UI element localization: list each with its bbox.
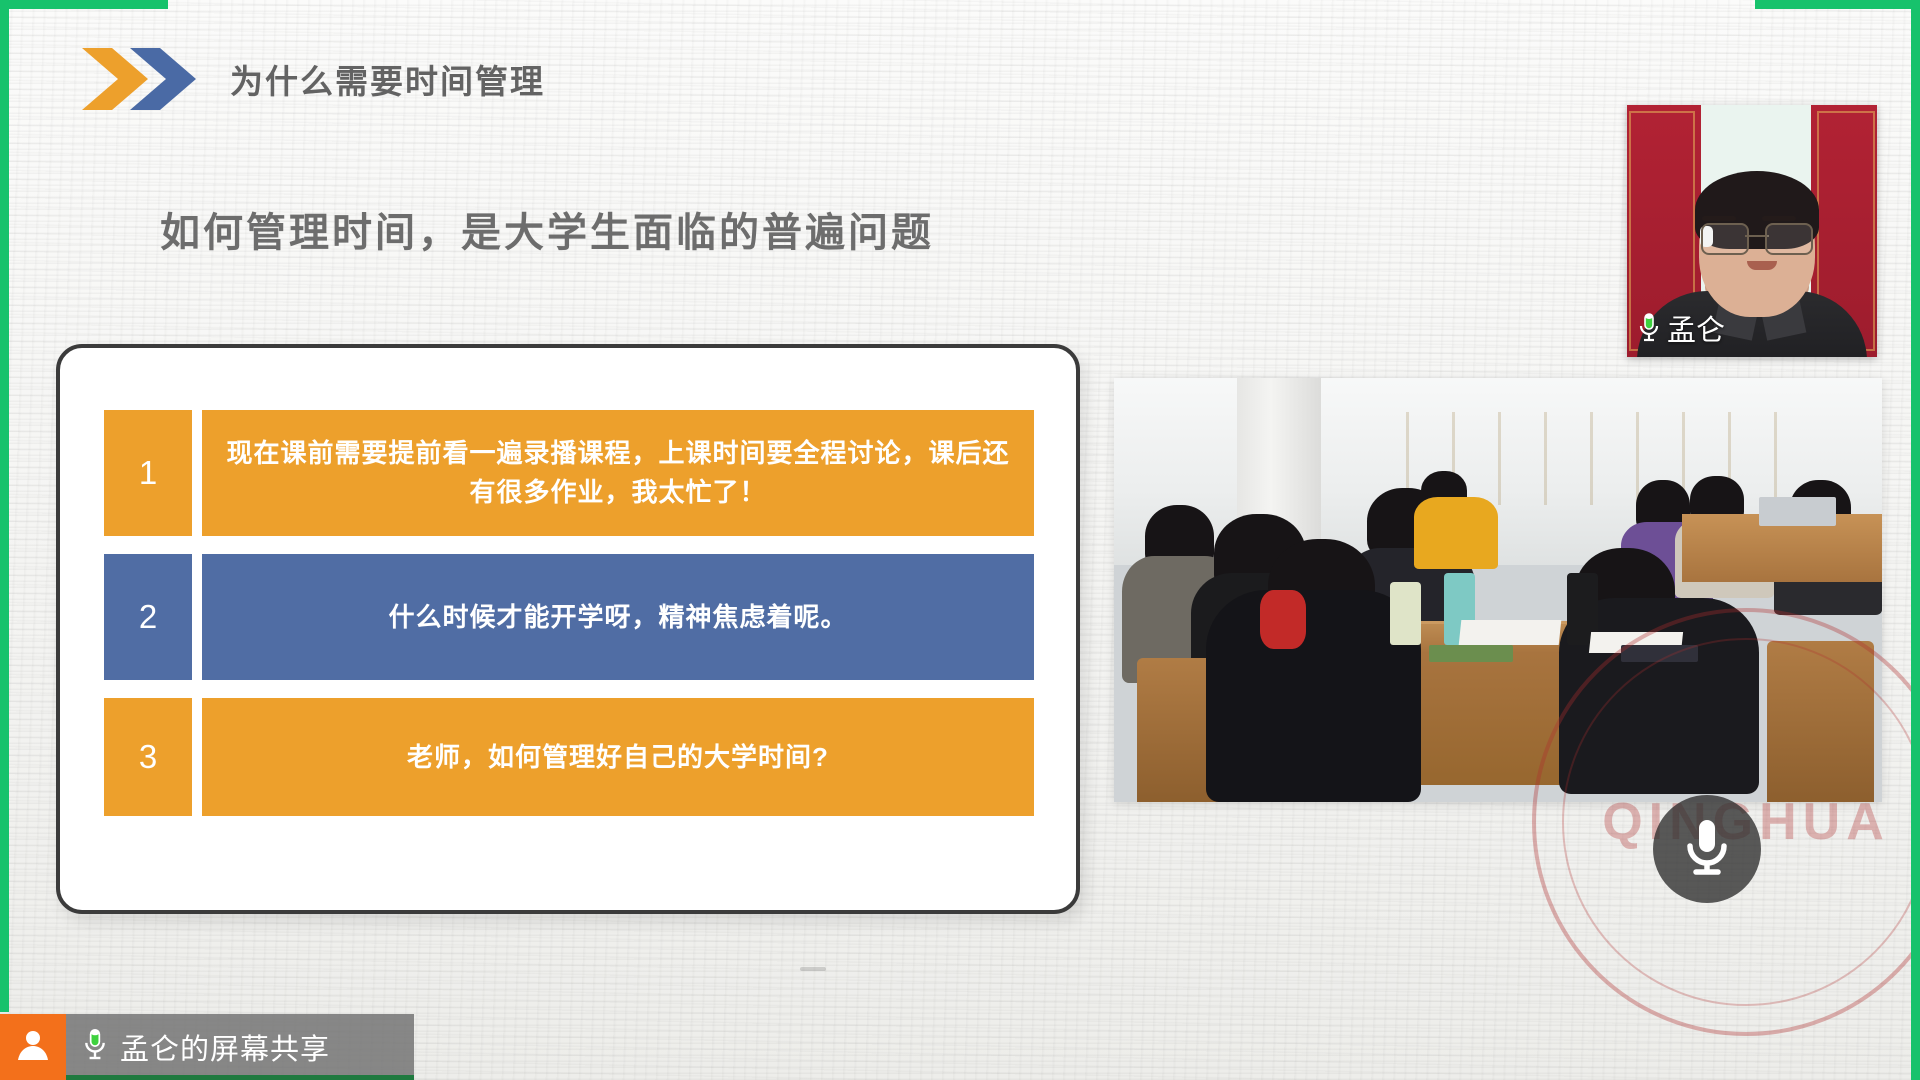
participant-name: 孟仑 (1667, 307, 1725, 349)
screen-share-viewer: 为什么需要时间管理 如何管理时间，是大学生面临的普遍问题 1 现在课前需要提前看… (0, 0, 1920, 1080)
app-icon-button[interactable] (0, 1014, 66, 1080)
person-icon (15, 1027, 51, 1068)
content-card: 1 现在课前需要提前看一遍录播课程，上课时间要全程讨论，课后还有很多作业，我太忙… (56, 344, 1080, 914)
numbered-list: 1 现在课前需要提前看一遍录播课程，上课时间要全程讨论，课后还有很多作业，我太忙… (104, 410, 1034, 816)
library-photo (1114, 378, 1882, 802)
screen-share-border-right (1911, 0, 1920, 1080)
webcam-pip[interactable]: 孟仑 (1627, 105, 1877, 357)
list-item-number: 1 (104, 410, 192, 536)
microphone-icon (82, 1028, 108, 1067)
microphone-icon (1681, 816, 1733, 883)
list-item-text: 老师，如何管理好自己的大学时间? (202, 698, 1034, 816)
list-item: 3 老师，如何管理好自己的大学时间? (104, 698, 1034, 816)
taskbar-item-label: 孟仑的屏幕共享 (120, 1026, 330, 1068)
participant-label: 孟仑 (1637, 307, 1725, 349)
list-item-text: 现在课前需要提前看一遍录播课程，上课时间要全程讨论，课后还有很多作业，我太忙了！ (202, 410, 1034, 536)
taskbar-item-screen-share[interactable]: 孟仑的屏幕共享 (66, 1014, 414, 1080)
list-item-number: 2 (104, 554, 192, 680)
taskbar: 孟仑的屏幕共享 (0, 1014, 414, 1080)
list-item: 2 什么时候才能开学呀，精神焦虑着呢。 (104, 554, 1034, 680)
microphone-toggle-button[interactable] (1653, 795, 1761, 903)
slide-header: 为什么需要时间管理 (82, 48, 545, 110)
list-item-number: 3 (104, 698, 192, 816)
slide-subtitle: 如何管理时间，是大学生面临的普遍问题 (160, 200, 934, 258)
screen-share-border-top-left (0, 0, 168, 9)
screen-share-border-top-right (1755, 0, 1920, 9)
screen-share-border-left (0, 0, 9, 1012)
list-item: 1 现在课前需要提前看一遍录播课程，上课时间要全程讨论，课后还有很多作业，我太忙… (104, 410, 1034, 536)
list-item-text: 什么时候才能开学呀，精神焦虑着呢。 (202, 554, 1034, 680)
page-title: 为什么需要时间管理 (230, 55, 545, 103)
microphone-icon (1637, 313, 1661, 343)
scroll-hint (800, 967, 826, 971)
double-chevron-icon (82, 48, 200, 110)
